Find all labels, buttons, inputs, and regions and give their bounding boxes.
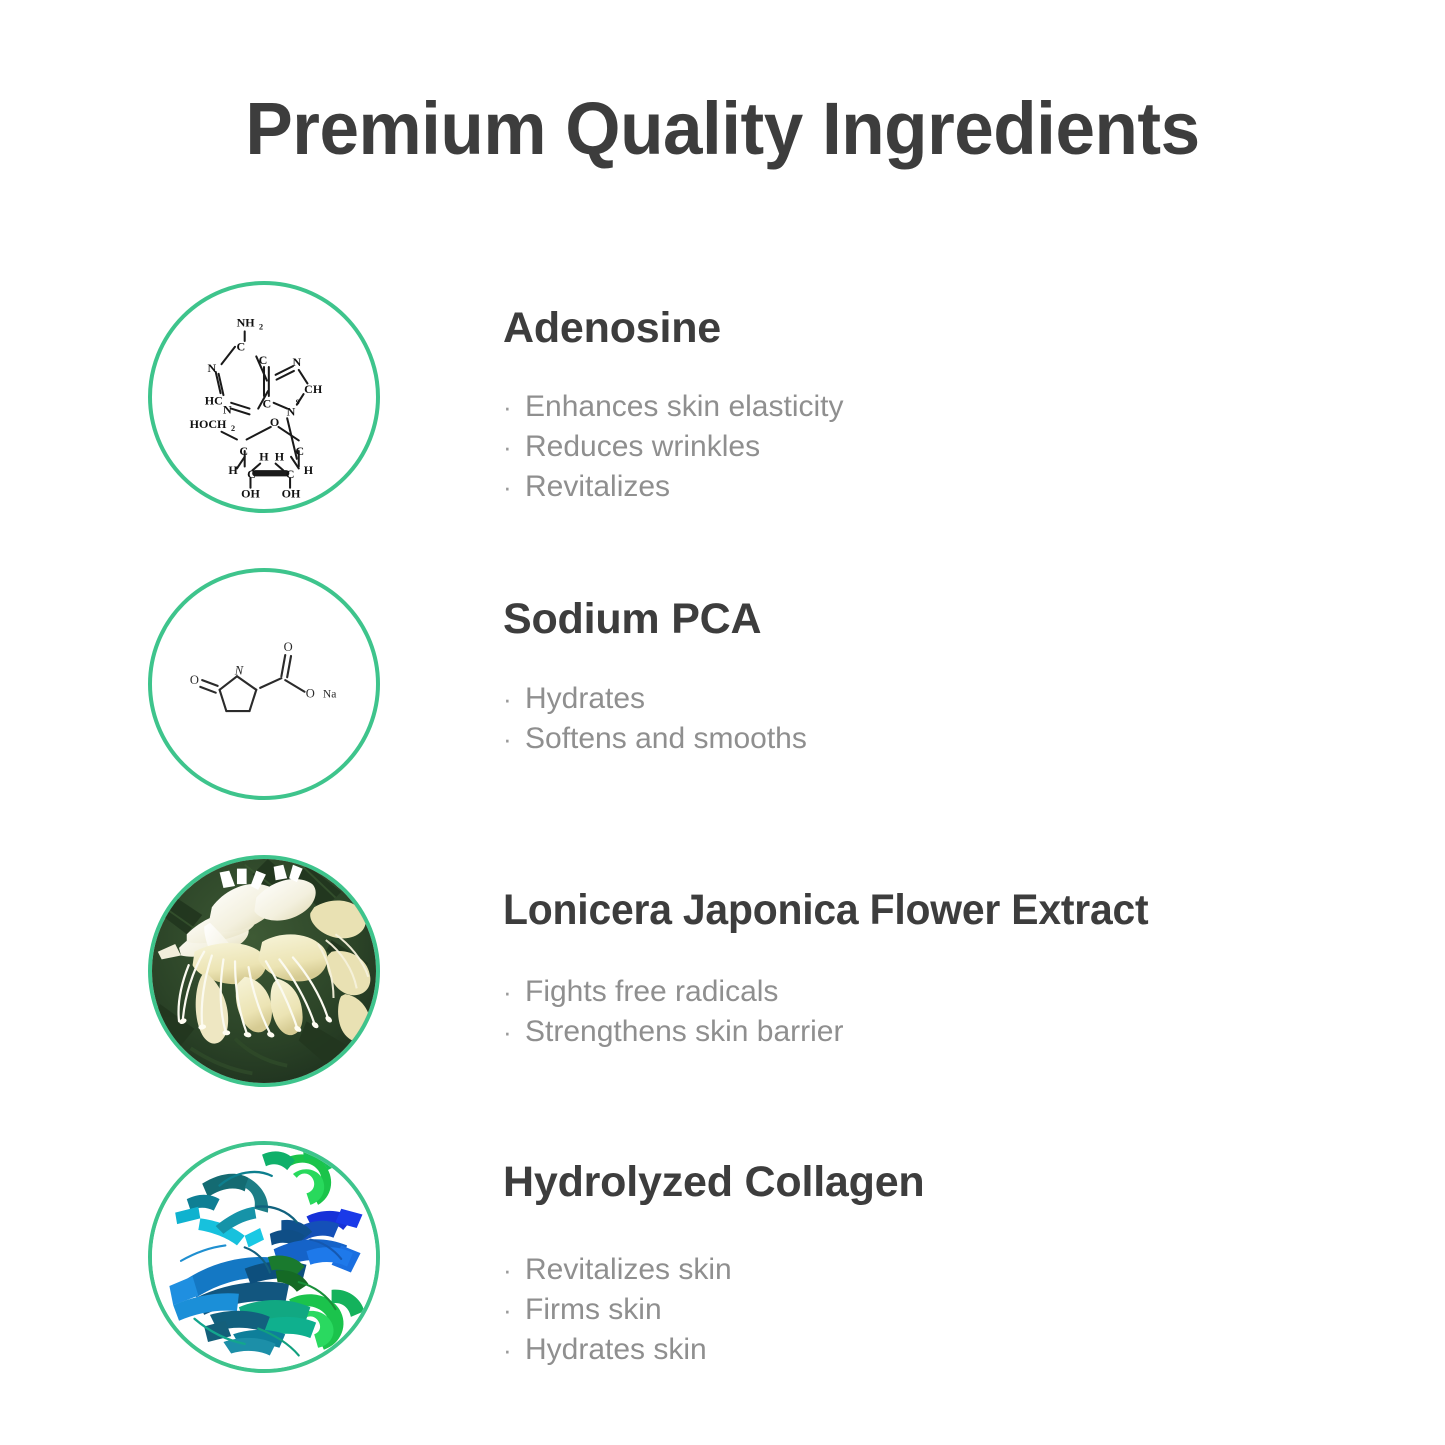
ingredient-list: NH 2 C N C HC N C N CH N 9 HOCH: [0, 0, 1445, 1445]
benefit-text: Revitalizes: [525, 470, 670, 503]
bullet-icon: ·: [503, 1251, 525, 1290]
svg-text:C: C: [263, 397, 272, 411]
ingredient-body: Lonicera Japonica Flower Extract ·Fights…: [503, 855, 1343, 1052]
svg-text:HOCH: HOCH: [190, 417, 227, 431]
benefit-item: ·Revitalizes skin: [503, 1250, 1343, 1290]
svg-text:O: O: [284, 640, 293, 654]
benefit-text: Softens and smooths: [525, 722, 807, 755]
benefit-list: ·Enhances skin elasticity ·Reduces wrink…: [503, 387, 1343, 507]
ingredient-body: Sodium PCA ·Hydrates ·Softens and smooth…: [503, 568, 1343, 759]
svg-text:N: N: [234, 663, 244, 677]
svg-text:N: N: [223, 402, 232, 416]
svg-text:C: C: [286, 467, 295, 481]
benefit-text: Firms skin: [525, 1293, 662, 1326]
svg-text:HC: HC: [205, 394, 223, 408]
benefit-text: Hydrates: [525, 682, 645, 715]
svg-text:C: C: [295, 444, 304, 458]
svg-text:C: C: [236, 340, 245, 354]
svg-text:N: N: [208, 361, 217, 375]
svg-text:CH: CH: [304, 382, 323, 396]
bullet-icon: ·: [503, 1331, 525, 1370]
svg-text:H: H: [228, 463, 238, 477]
svg-text:N: N: [287, 404, 296, 418]
bullet-icon: ·: [503, 973, 525, 1012]
svg-text:O: O: [306, 687, 315, 701]
bullet-icon: ·: [503, 388, 525, 427]
benefit-item: ·Firms skin: [503, 1290, 1343, 1330]
svg-text:OH: OH: [282, 486, 301, 500]
benefit-item: ·Hydrates: [503, 679, 1343, 719]
svg-text:H: H: [304, 463, 314, 477]
ingredient-row: Hydrolyzed Collagen ·Revitalizes skin ·F…: [148, 1141, 1348, 1377]
bullet-icon: ·: [503, 468, 525, 507]
benefit-list: ·Hydrates ·Softens and smooths: [503, 679, 1343, 759]
benefit-text: Reduces wrinkles: [525, 430, 760, 463]
svg-text:H: H: [259, 450, 269, 464]
ingredient-icon-collagen: [148, 1141, 380, 1373]
svg-text:Na: Na: [323, 688, 337, 701]
benefit-item: ·Fights free radicals: [503, 972, 1343, 1012]
bullet-icon: ·: [503, 680, 525, 719]
honeysuckle-flower-photo-icon: [152, 859, 376, 1083]
benefit-list: ·Revitalizes skin ·Firms skin ·Hydrates …: [503, 1250, 1343, 1370]
benefit-item: ·Strengthens skin barrier: [503, 1012, 1343, 1052]
collagen-protein-ribbon-icon: [152, 1145, 376, 1369]
ingredient-name: Adenosine: [503, 307, 1343, 350]
ingredient-row: Lonicera Japonica Flower Extract ·Fights…: [148, 855, 1348, 1091]
svg-text:C: C: [239, 444, 248, 458]
svg-text:9: 9: [296, 398, 300, 407]
benefit-text: Revitalizes skin: [525, 1253, 732, 1286]
svg-text:N: N: [292, 355, 301, 369]
ingredient-name: Hydrolyzed Collagen: [503, 1161, 1343, 1204]
ingredient-row: NH 2 C N C HC N C N CH N 9 HOCH: [148, 281, 1348, 517]
ingredient-row: O N O O Na Sodium PCA ·Hydrates ·Softens…: [148, 568, 1348, 804]
benefit-item: ·Enhances skin elasticity: [503, 387, 1343, 427]
svg-text:2: 2: [259, 322, 263, 331]
benefit-item: ·Revitalizes: [503, 467, 1343, 507]
svg-text:OH: OH: [241, 486, 260, 500]
benefit-text: Enhances skin elasticity: [525, 390, 844, 423]
benefit-item: ·Softens and smooths: [503, 719, 1343, 759]
benefit-text: Fights free radicals: [525, 975, 778, 1008]
adenosine-molecule-icon: NH 2 C N C HC N C N CH N 9 HOCH: [152, 285, 376, 509]
ingredient-name: Lonicera Japonica Flower Extract: [503, 889, 1301, 932]
sodium-pca-molecule-icon: O N O O Na: [152, 572, 376, 796]
benefit-item: ·Reduces wrinkles: [503, 427, 1343, 467]
ingredient-name: Sodium PCA: [503, 598, 1343, 641]
bullet-icon: ·: [503, 1013, 525, 1052]
ingredients-infographic: Premium Quality Ingredients: [0, 0, 1445, 1445]
svg-text:H: H: [275, 450, 285, 464]
svg-text:C: C: [259, 353, 268, 367]
ingredient-icon-lonicera: [148, 855, 380, 1087]
bullet-icon: ·: [503, 720, 525, 759]
svg-text:C: C: [247, 467, 256, 481]
benefit-text: Strengthens skin barrier: [525, 1015, 844, 1048]
benefit-item: ·Hydrates skin: [503, 1330, 1343, 1370]
ingredient-icon-sodium-pca: O N O O Na: [148, 568, 380, 800]
svg-text:2: 2: [231, 424, 235, 433]
ingredient-body: Hydrolyzed Collagen ·Revitalizes skin ·F…: [503, 1141, 1343, 1370]
ingredient-body: Adenosine ·Enhances skin elasticity ·Red…: [503, 281, 1343, 507]
benefit-list: ·Fights free radicals ·Strengthens skin …: [503, 972, 1343, 1052]
svg-text:O: O: [190, 673, 199, 687]
svg-text:NH: NH: [237, 316, 256, 330]
bullet-icon: ·: [503, 428, 525, 467]
svg-text:O: O: [270, 415, 279, 429]
benefit-text: Hydrates skin: [525, 1333, 707, 1366]
bullet-icon: ·: [503, 1291, 525, 1330]
ingredient-icon-adenosine: NH 2 C N C HC N C N CH N 9 HOCH: [148, 281, 380, 513]
